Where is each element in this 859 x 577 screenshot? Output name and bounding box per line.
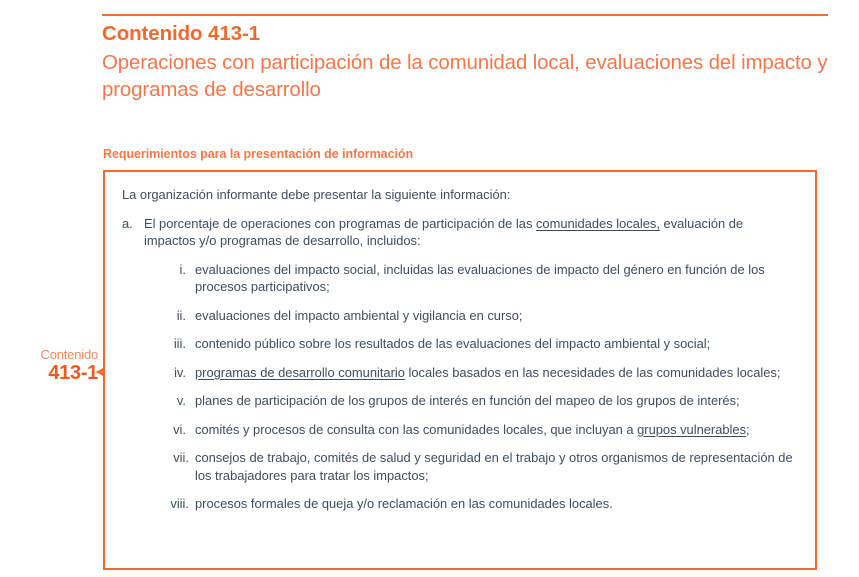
- list-item-text-after: contenido público sobre los resultados d…: [195, 336, 710, 351]
- margin-callout-code: 413-1: [10, 363, 98, 383]
- page-title: Contenido 413-1 Operaciones con particip…: [102, 21, 832, 103]
- list-item-text: planes de participación de los grupos de…: [195, 393, 740, 408]
- requirements-sublist: i. evaluaciones del impacto social, incl…: [144, 261, 797, 513]
- list-item: v. planes de participación de los grupos…: [144, 392, 797, 410]
- list-item-text: comités y procesos de consulta con las c…: [195, 422, 750, 437]
- requirements-lead: La organización informante debe presenta…: [122, 186, 797, 204]
- list-item-text-after: consejos de trabajo, comités de salud y …: [195, 450, 793, 483]
- margin-callout-word: Contenido: [10, 348, 98, 361]
- list-item-text: evaluaciones del impacto ambiental y vig…: [195, 308, 522, 323]
- requirements-box: La organización informante debe presenta…: [103, 170, 817, 570]
- list-item-marker: iii.: [144, 335, 186, 353]
- list-item-marker: vi.: [144, 421, 186, 439]
- list-item-text-after: procesos formales de queja y/o reclamaci…: [195, 496, 613, 511]
- section-label: Requerimientos para la presentación de i…: [103, 147, 413, 161]
- list-item-text: El porcentaje de operaciones con program…: [144, 216, 743, 249]
- list-item: ii. evaluaciones del impacto ambiental y…: [144, 307, 797, 325]
- glossary-link-grupos-vulnerables[interactable]: grupos vulnerables: [637, 422, 746, 437]
- glossary-link-comunidades-locales[interactable]: comunidades locales,: [536, 216, 660, 231]
- list-item-marker: i.: [144, 261, 186, 279]
- list-item-text-after: planes de participación de los grupos de…: [195, 393, 740, 408]
- list-item-text-after: locales basados en las necesidades de la…: [405, 365, 781, 380]
- list-item: vii. consejos de trabajo, comités de sal…: [144, 449, 797, 484]
- list-item-text-after: ;: [746, 422, 750, 437]
- list-item-marker: viii.: [144, 495, 189, 513]
- glossary-link-programas-desarrollo-comunitario[interactable]: programas de desarrollo comunitario: [195, 365, 405, 380]
- list-item-marker: iv.: [144, 364, 186, 382]
- list-item-marker: a.: [122, 215, 136, 233]
- list-item-marker: vii.: [144, 449, 189, 467]
- list-item: iii. contenido público sobre los resulta…: [144, 335, 797, 353]
- list-item-text: evaluaciones del impacto social, incluid…: [195, 262, 765, 295]
- list-item: a. El porcentaje de operaciones con prog…: [122, 215, 797, 513]
- list-item-text: contenido público sobre los resultados d…: [195, 336, 710, 351]
- requirements-content: La organización informante debe presenta…: [105, 172, 815, 513]
- header-top-rule: [102, 14, 828, 16]
- page-title-kicker: Contenido 413-1: [102, 21, 832, 46]
- list-item-marker: v.: [144, 392, 186, 410]
- list-item: iv. programas de desarrollo comunitario …: [144, 364, 797, 382]
- list-item-text-before: El porcentaje de operaciones con program…: [144, 216, 536, 231]
- list-item-marker: ii.: [144, 307, 186, 325]
- margin-callout: Contenido 413-1: [10, 348, 98, 383]
- list-item: i. evaluaciones del impacto social, incl…: [144, 261, 797, 296]
- list-item-text: procesos formales de queja y/o reclamaci…: [195, 496, 613, 511]
- page-title-text: Operaciones con participación de la comu…: [102, 49, 832, 103]
- requirements-list: a. El porcentaje de operaciones con prog…: [122, 215, 797, 513]
- list-item-text-before: comités y procesos de consulta con las c…: [195, 422, 637, 437]
- list-item: viii. procesos formales de queja y/o rec…: [144, 495, 797, 513]
- list-item-text: consejos de trabajo, comités de salud y …: [195, 450, 793, 483]
- list-item-text-after: evaluaciones del impacto social, incluid…: [195, 262, 765, 295]
- list-item-text-after: evaluaciones del impacto ambiental y vig…: [195, 308, 522, 323]
- list-item-text: programas de desarrollo comunitario loca…: [195, 365, 780, 380]
- list-item: vi. comités y procesos de consulta con l…: [144, 421, 797, 439]
